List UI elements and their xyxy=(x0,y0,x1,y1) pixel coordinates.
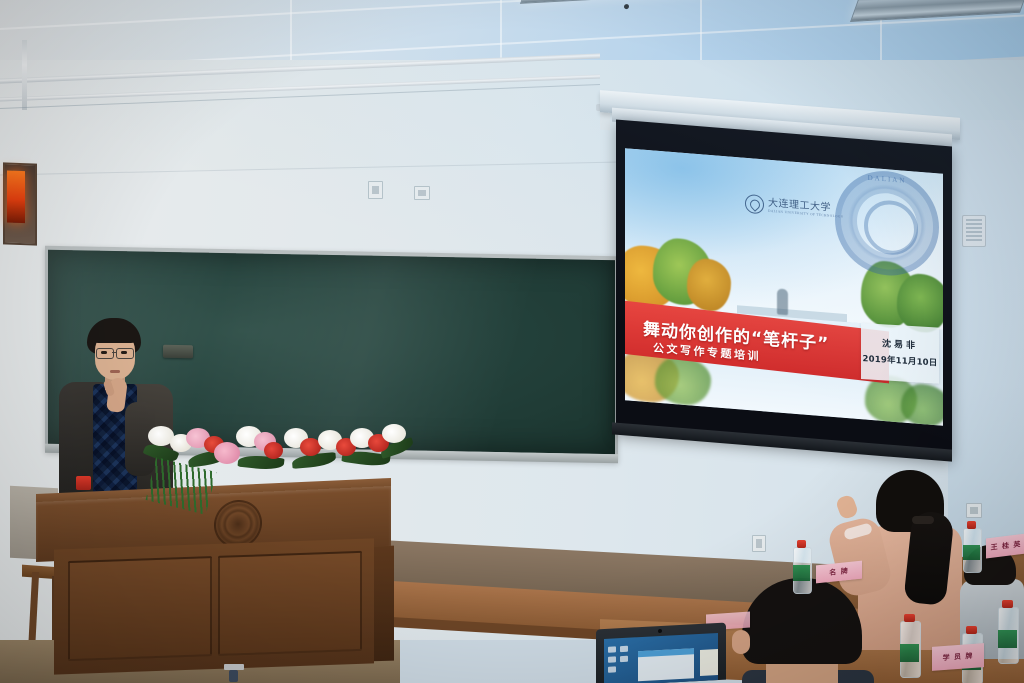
water-bottle[interactable] xyxy=(963,521,980,571)
projection-screen: DALIAN 大连理工大学 DALIAN UNIVERSITY OF TECHN… xyxy=(616,119,952,459)
presenter-fringe xyxy=(89,326,140,343)
floral-arrangement xyxy=(142,412,412,492)
laptop-window-titlebar xyxy=(638,648,694,657)
lecture-hall-photo: DALIAN 大连理工大学 DALIAN UNIVERSITY OF TECHN… xyxy=(0,0,1024,683)
white-lily xyxy=(382,424,406,443)
glasses-icon xyxy=(116,348,134,359)
podium xyxy=(36,486,391,683)
podium-door-handle[interactable] xyxy=(229,670,238,682)
podium-cabinet-door[interactable] xyxy=(218,551,362,656)
indicator-glow xyxy=(7,171,25,224)
hair-tie xyxy=(912,516,934,524)
water-bottle[interactable] xyxy=(900,614,919,676)
water-bottle[interactable] xyxy=(998,600,1017,662)
man-ear xyxy=(732,630,750,654)
presenter-mouth xyxy=(110,370,120,373)
university-logo-mark xyxy=(745,194,764,215)
water-bottle[interactable] xyxy=(793,540,810,592)
wall-indicator-panel xyxy=(3,162,37,245)
name-card-text: 学 员 牌 xyxy=(932,643,984,671)
laptop-window xyxy=(638,648,694,681)
seal-inner-ring xyxy=(864,198,918,256)
red-rose xyxy=(264,442,283,459)
pink-lily xyxy=(214,442,240,464)
wall-speaker xyxy=(962,215,986,247)
podium-body xyxy=(54,538,374,674)
slide-date: 2019年11月10日 xyxy=(861,352,939,369)
glasses-icon xyxy=(96,348,114,359)
wall-outlet[interactable] xyxy=(752,535,766,552)
red-cup[interactable] xyxy=(76,476,91,490)
audience-laptop[interactable] xyxy=(596,626,726,683)
slide-person-silhouette xyxy=(777,288,788,315)
slide-byline-box: 沈易非 2019年11月10日 xyxy=(861,323,939,384)
presentation-slide: DALIAN 大连理工大学 DALIAN UNIVERSITY OF TECHN… xyxy=(625,148,943,426)
slide-presenter-name: 沈易非 xyxy=(861,335,939,353)
ceiling-sensor xyxy=(624,4,629,9)
laptop-screen[interactable] xyxy=(604,633,718,683)
podium-cabinet-door[interactable] xyxy=(68,556,212,661)
name-card[interactable]: 学 员 牌 xyxy=(932,643,984,671)
wall-outlet[interactable] xyxy=(414,186,430,200)
laptop-document xyxy=(700,649,718,676)
wall-outlet[interactable] xyxy=(368,181,383,199)
slide-tree-reflection xyxy=(901,382,943,425)
glasses-bridge xyxy=(112,352,116,353)
conduit-riser xyxy=(22,40,27,110)
seal-label: DALIAN xyxy=(868,174,907,185)
